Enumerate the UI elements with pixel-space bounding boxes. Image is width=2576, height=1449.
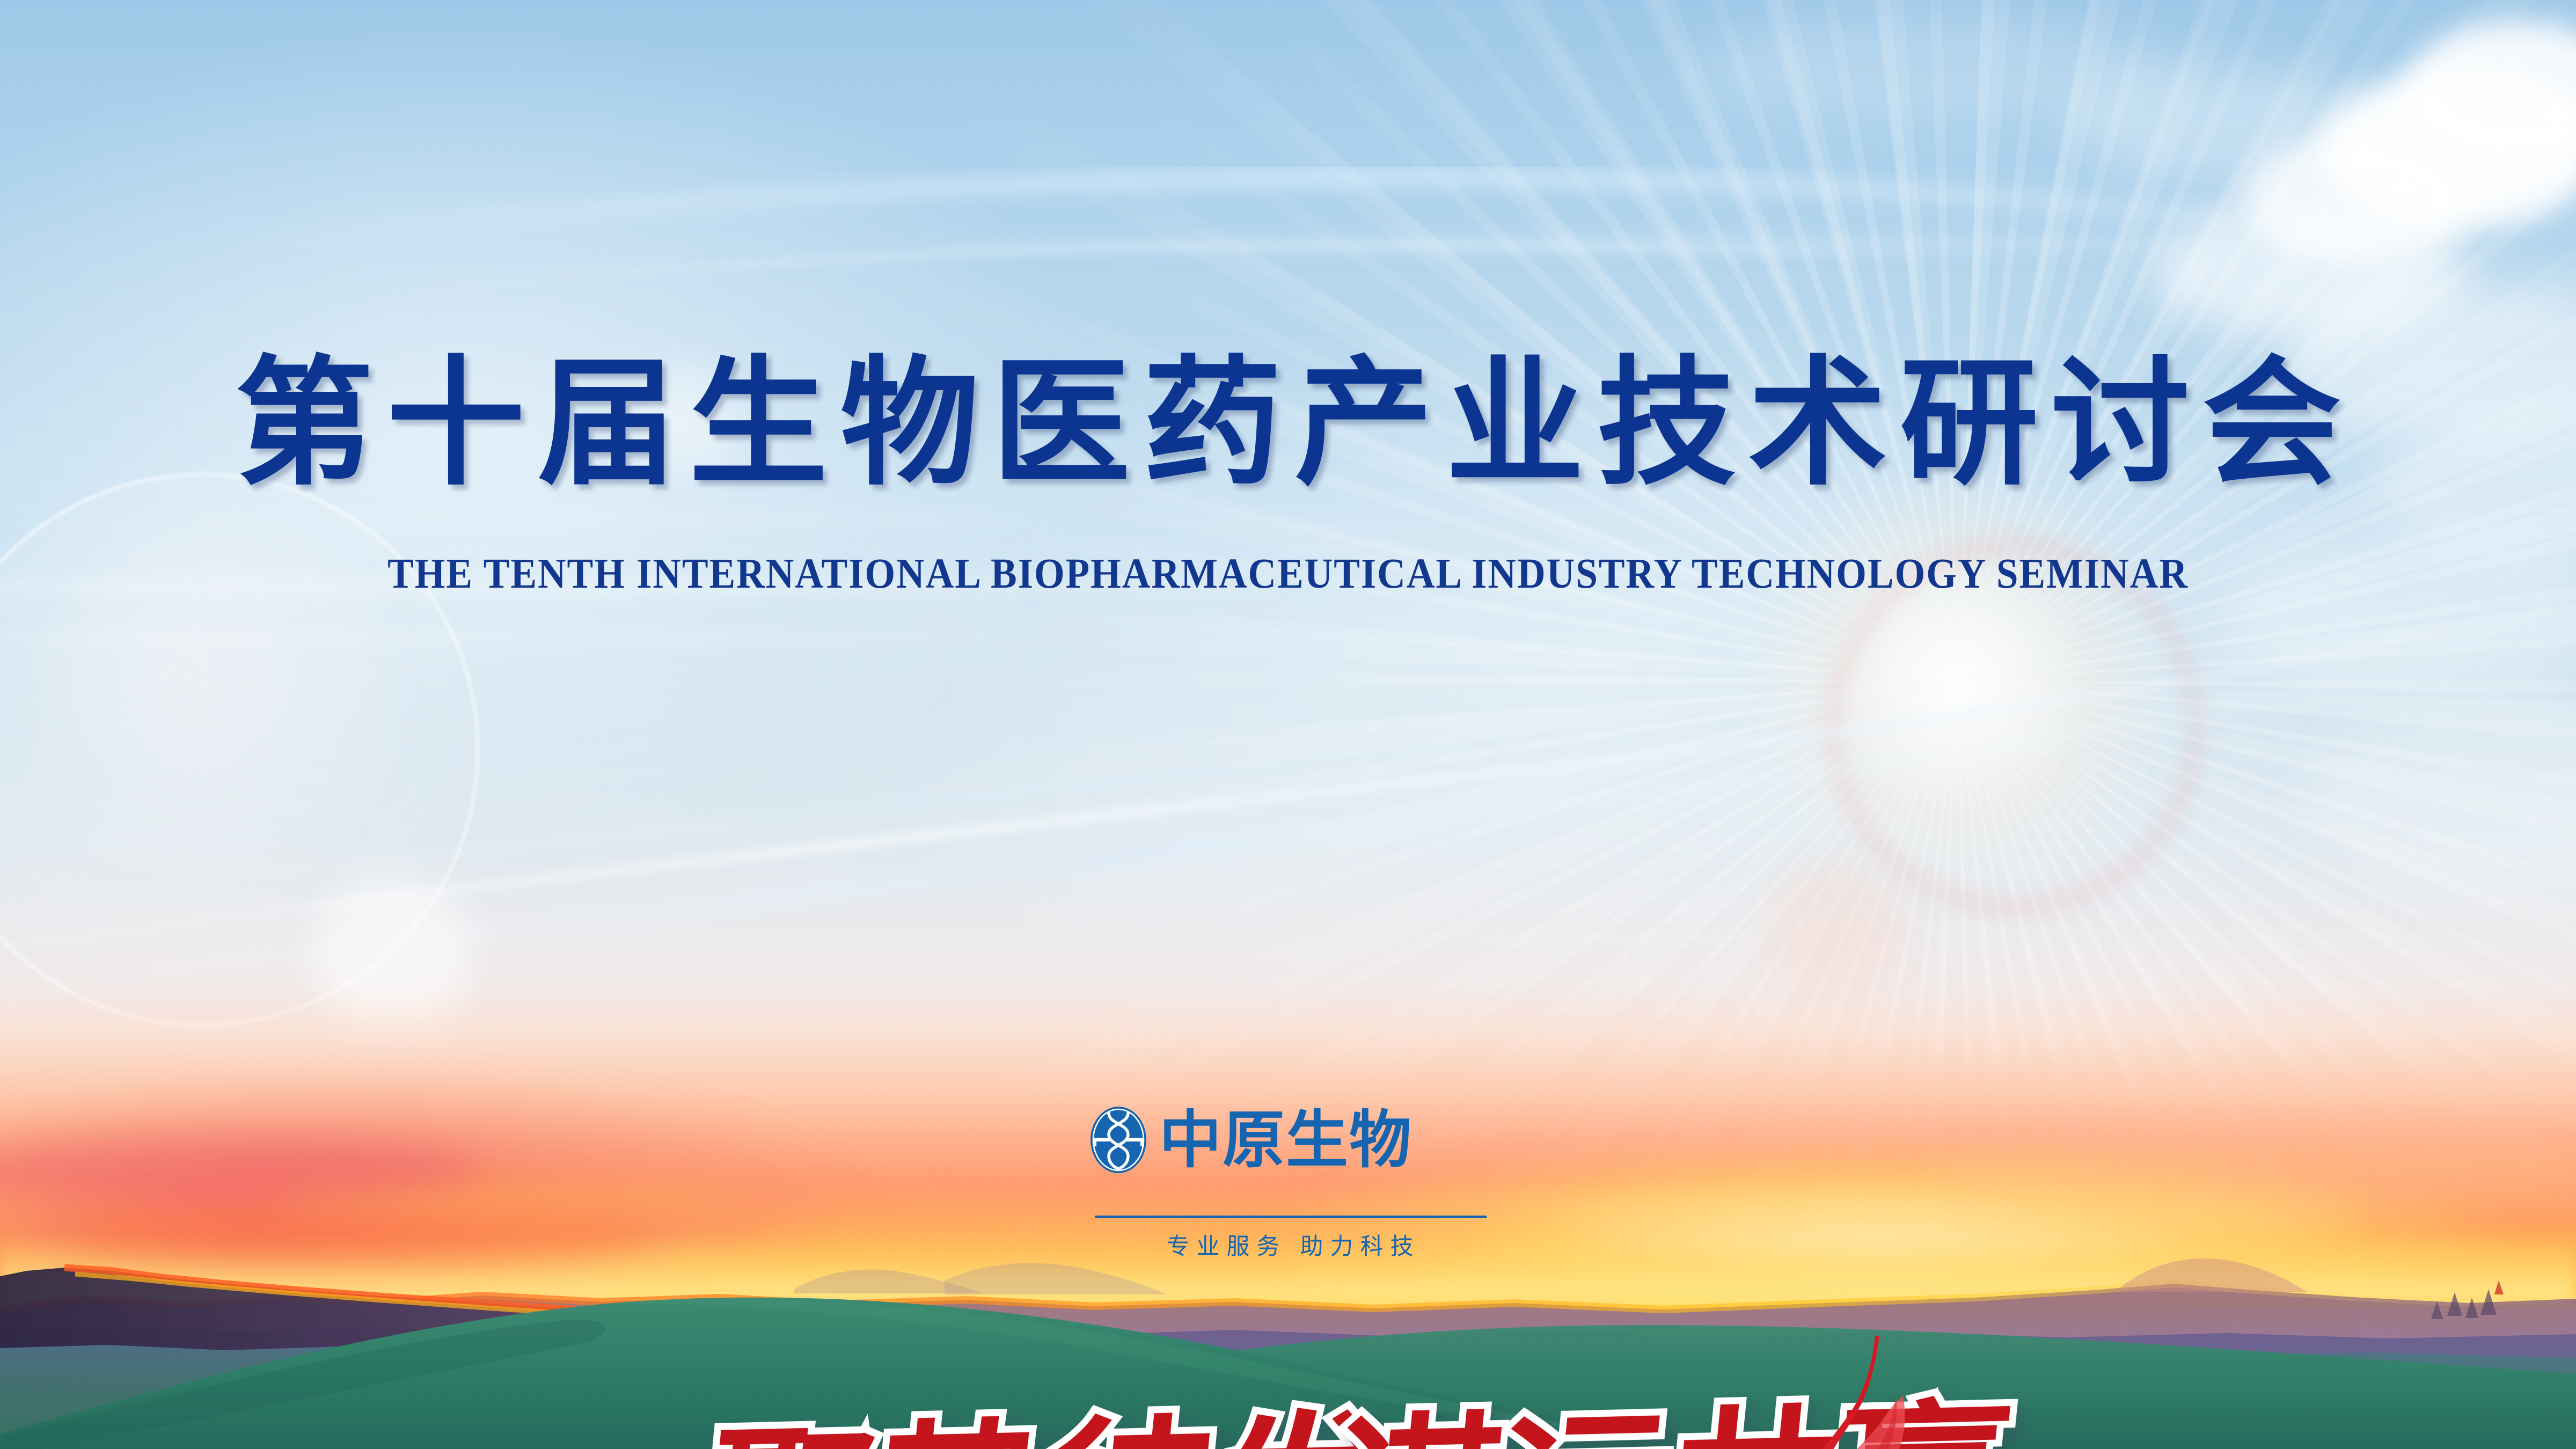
red-ribbon-flourish (1690, 1331, 2023, 1449)
slogan-part-1: 聚势待发 (696, 1355, 1396, 1449)
page-title: 第十届生物医药产业技术研讨会 (222, 354, 2354, 493)
page-subtitle: THE TENTH INTERNATIONAL BIOPHARMACEUTICA… (97, 550, 2479, 598)
slogan-block: 聚势待发 谋远共赢 (0, 665, 2576, 1009)
company-tagline: 专业服务 助力科技 (1095, 1228, 1492, 1261)
dna-helix-circle-icon (1089, 1106, 1147, 1174)
logo-divider (1095, 1216, 1487, 1218)
title-block: 第十届生物医药产业技术研讨会 (0, 354, 2576, 493)
company-logo[interactable]: 中原生物 专业服务 助力科技 (1089, 1106, 1519, 1267)
company-name: 中原生物 (1159, 1109, 1413, 1171)
poster-canvas: 第十届生物医药产业技术研讨会 THE TENTH INTERNATIONAL B… (0, 0, 2576, 1449)
